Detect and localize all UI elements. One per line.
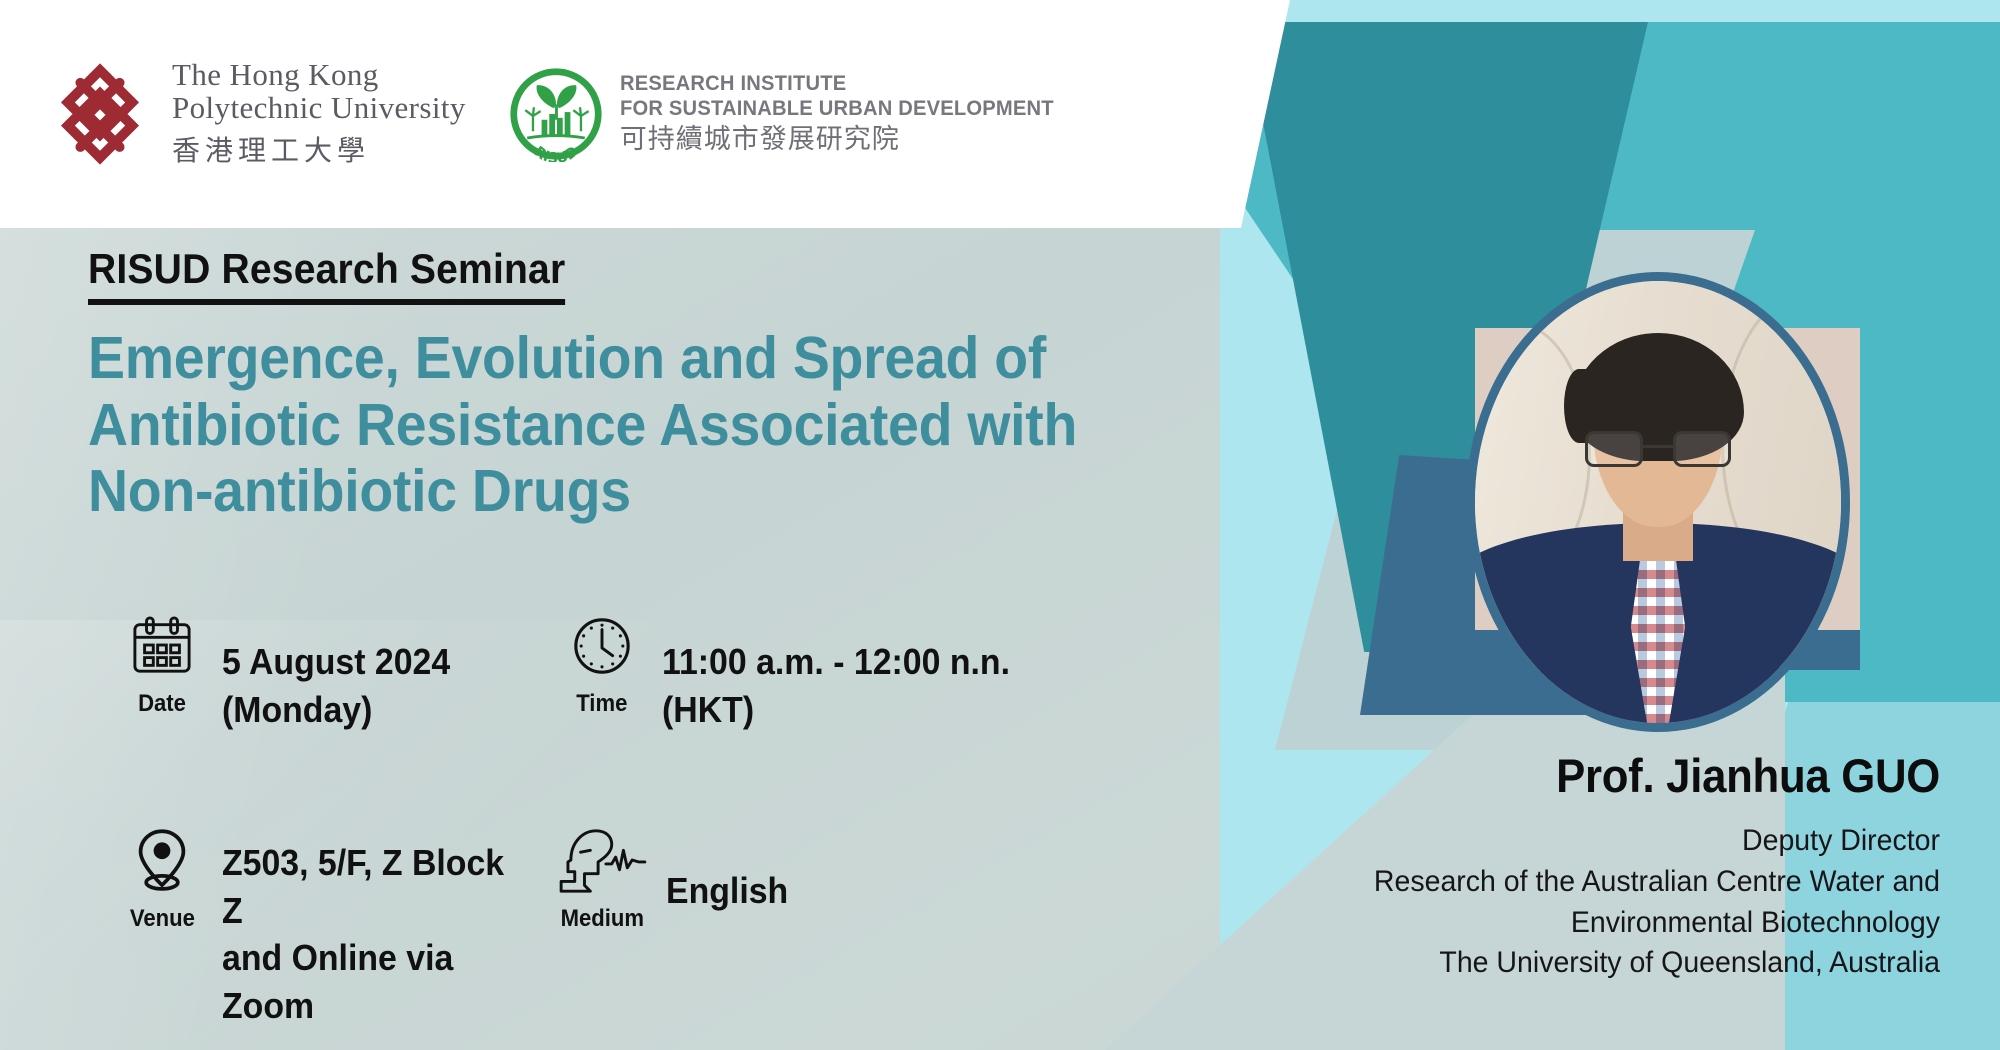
medium-caption: Medium xyxy=(560,905,643,933)
portrait-image xyxy=(1475,281,1841,723)
seminar-details: Date 5 August 2024 (Monday) xyxy=(108,610,1188,1029)
risud-chinese-name: 可持續城市發展研究院 xyxy=(620,124,1072,156)
venue-caption: Venue xyxy=(129,905,194,933)
polyu-line2: Polytechnic University xyxy=(172,92,466,124)
time-value: 11:00 a.m. - 12:00 n.n. (HKT) xyxy=(662,610,1081,733)
clock-icon xyxy=(571,610,633,682)
portrait-glasses xyxy=(1583,431,1733,467)
glasses-lens-right xyxy=(1673,431,1731,467)
svg-text:RISUD: RISUD xyxy=(531,144,582,162)
location-pin-icon xyxy=(135,825,189,897)
medium-value: English xyxy=(666,825,788,915)
polyu-line1: The Hong Kong xyxy=(172,59,466,91)
speaker-portrait xyxy=(1466,272,1850,732)
poster-header: The Hong Kong Polytechnic University 香港理… xyxy=(0,0,1290,228)
polyu-wordmark: The Hong Kong Polytechnic University 香港理… xyxy=(172,59,466,168)
risud-wordmark: RESEARCH INSTITUTE FOR SUSTAINABLE URBAN… xyxy=(620,72,1072,156)
date-icon-column: Date xyxy=(108,610,216,718)
risud-emblem-icon: RISUD xyxy=(508,66,604,162)
polyu-logo-lockup: The Hong Kong Polytechnic University 香港理… xyxy=(46,56,466,172)
detail-medium: Medium English xyxy=(548,825,1008,933)
seminar-title: Emergence, Evolution and Spread of Antib… xyxy=(88,325,1084,525)
date-caption: Date xyxy=(138,690,186,718)
venue-icon-column: Venue xyxy=(108,825,216,933)
speaking-head-icon xyxy=(555,825,649,897)
seminar-kicker: RISUD Research Seminar xyxy=(88,245,565,305)
time-icon-column: Time xyxy=(548,610,656,718)
speaker-affiliation: Deputy Director Research of the Australi… xyxy=(1085,821,1940,984)
calendar-icon xyxy=(131,610,193,682)
date-value: 5 August 2024 (Monday) xyxy=(222,610,528,733)
detail-time: Time 11:00 a.m. - 12:00 n.n. (HKT) xyxy=(548,610,1108,733)
risud-line2: FOR SUSTAINABLE URBAN DEVELOPMENT xyxy=(620,97,1054,122)
seminar-poster: The Hong Kong Polytechnic University 香港理… xyxy=(0,0,2000,1050)
detail-venue: Venue Z503, 5/F, Z Block Z and Online vi… xyxy=(108,825,548,1029)
speaker-name: Prof. Jianhua GUO xyxy=(1103,748,1940,803)
risud-line1: RESEARCH INSTITUTE xyxy=(620,72,1054,97)
polyu-knot-icon xyxy=(46,56,154,172)
details-row-1: Date 5 August 2024 (Monday) xyxy=(108,610,1188,733)
polyu-english-name: The Hong Kong Polytechnic University xyxy=(172,59,466,123)
risud-logo-lockup: RISUD RESEARCH INSTITUTE FOR SUSTAINABLE… xyxy=(508,66,1072,162)
glasses-bridge xyxy=(1643,445,1673,448)
polyu-chinese-name: 香港理工大學 xyxy=(172,129,466,169)
details-row-2: Venue Z503, 5/F, Z Block Z and Online vi… xyxy=(108,825,1188,1029)
speaker-info: Prof. Jianhua GUO Deputy Director Resear… xyxy=(1040,748,1940,984)
time-caption: Time xyxy=(576,690,627,718)
detail-date: Date 5 August 2024 (Monday) xyxy=(108,610,548,733)
glasses-lens-left xyxy=(1585,431,1643,467)
venue-value: Z503, 5/F, Z Block Z and Online via Zoom xyxy=(222,825,528,1029)
medium-icon-column: Medium xyxy=(548,825,656,933)
